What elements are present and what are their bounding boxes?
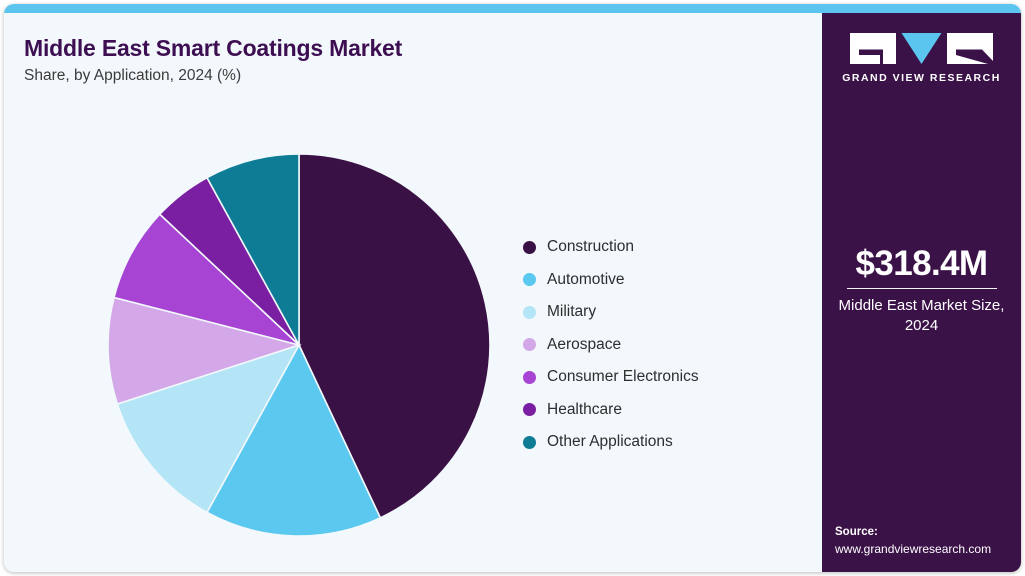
page-subtitle: Share, by Application, 2024 (%) bbox=[24, 67, 241, 85]
legend-swatch-icon bbox=[523, 371, 536, 384]
legend-label: Construction bbox=[547, 238, 634, 256]
legend-label: Consumer Electronics bbox=[547, 368, 699, 386]
brand-logo: GRAND VIEW RESEARCH bbox=[822, 31, 1021, 84]
legend-item[interactable]: Consumer Electronics bbox=[523, 361, 803, 394]
brand-panel: GRAND VIEW RESEARCH $318.4M Middle East … bbox=[822, 13, 1021, 572]
pie-chart-svg bbox=[108, 154, 490, 536]
legend-swatch-icon bbox=[523, 436, 536, 449]
chart-pane: Middle East Smart Coatings Market Share,… bbox=[4, 13, 822, 572]
legend-swatch-icon bbox=[523, 338, 536, 351]
page-title: Middle East Smart Coatings Market bbox=[24, 35, 402, 62]
brand-wordmark: GRAND VIEW RESEARCH bbox=[842, 72, 1001, 84]
stat-value: $318.4M bbox=[822, 246, 1021, 283]
stat-divider bbox=[847, 288, 997, 289]
legend-item[interactable]: Healthcare bbox=[523, 394, 803, 427]
gvr-logo-icon bbox=[850, 31, 993, 66]
legend-label: Other Applications bbox=[547, 433, 673, 451]
legend-label: Healthcare bbox=[547, 401, 622, 419]
legend-item[interactable]: Other Applications bbox=[523, 426, 803, 459]
legend-item[interactable]: Aerospace bbox=[523, 329, 803, 362]
top-accent-bar bbox=[4, 4, 1021, 13]
legend-swatch-icon bbox=[523, 273, 536, 286]
legend-item[interactable]: Automotive bbox=[523, 264, 803, 297]
chart-legend: ConstructionAutomotiveMilitaryAerospaceC… bbox=[523, 231, 803, 459]
legend-label: Automotive bbox=[547, 271, 625, 289]
legend-swatch-icon bbox=[523, 403, 536, 416]
legend-item[interactable]: Military bbox=[523, 296, 803, 329]
market-size-stat: $318.4M Middle East Market Size, 2024 bbox=[822, 246, 1021, 336]
legend-swatch-icon bbox=[523, 306, 536, 319]
stat-caption: Middle East Market Size, 2024 bbox=[822, 296, 1021, 336]
source-label: Source: bbox=[835, 524, 1021, 541]
card-container: Middle East Smart Coatings Market Share,… bbox=[4, 4, 1021, 572]
pie-slice-group bbox=[108, 154, 490, 536]
legend-label: Military bbox=[547, 303, 596, 321]
source-note: Source: www.grandviewresearch.com bbox=[835, 524, 1021, 558]
legend-item[interactable]: Construction bbox=[523, 231, 803, 264]
legend-swatch-icon bbox=[523, 241, 536, 254]
chart-infographic: Middle East Smart Coatings Market Share,… bbox=[0, 0, 1025, 576]
pie-chart bbox=[108, 154, 490, 536]
source-url: www.grandviewresearch.com bbox=[835, 541, 1021, 558]
legend-label: Aerospace bbox=[547, 336, 621, 354]
